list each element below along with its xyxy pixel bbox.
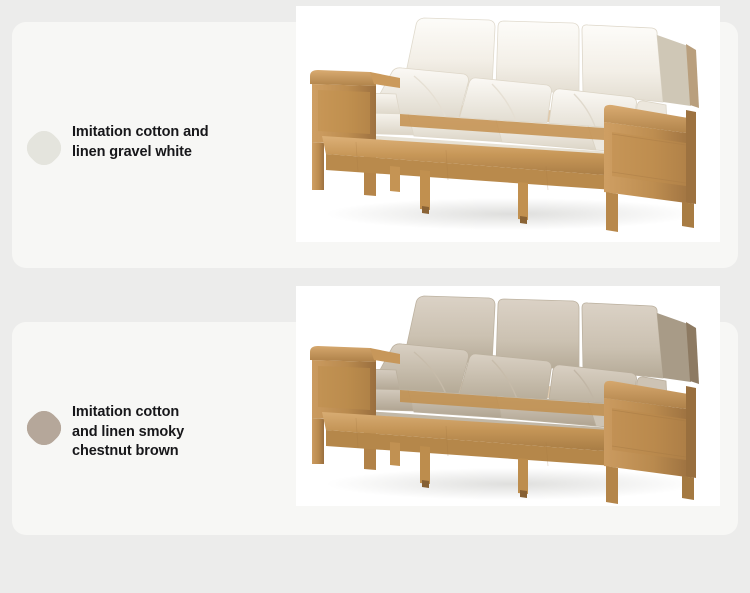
variant-label-text: Imitation cotton and linen gravel white [72, 123, 209, 162]
variant-label-smoky-chestnut-brown: Imitation cotton and linen smoky chestnu… [28, 398, 184, 462]
sofa-illustration [296, 6, 720, 242]
variant-label-text: Imitation cotton and linen smoky chestnu… [72, 403, 184, 462]
variant-label-gravel-white: Imitation cotton and linen gravel white [28, 118, 209, 164]
fabric-swatch-smoky-chestnut-brown[interactable] [21, 405, 66, 450]
sofa-illustration [296, 286, 720, 506]
sofa-image-smoky-chestnut-brown[interactable] [296, 286, 720, 506]
fabric-swatch-gravel-white[interactable] [21, 125, 66, 170]
sofa-image-gravel-white[interactable] [296, 6, 720, 242]
product-variant-page: Imitation cotton and linen gravel white [0, 0, 750, 593]
